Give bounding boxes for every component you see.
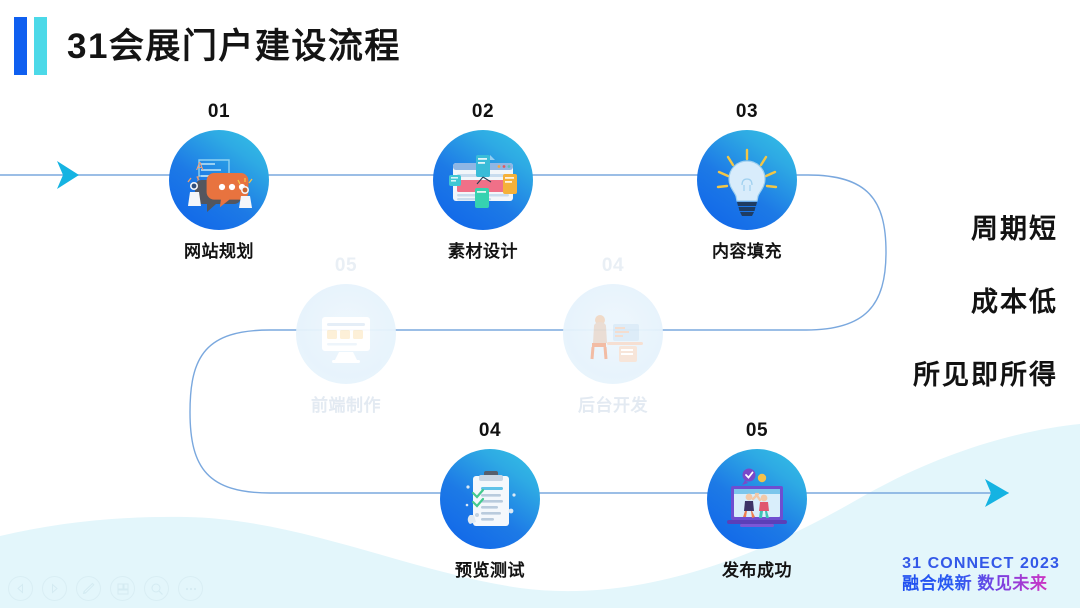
speech-bubbles-icon: A ? <box>169 130 269 230</box>
step-label: 前端制作 <box>261 397 431 414</box>
page-title: 31会展门户建设流程 <box>67 29 401 64</box>
step-number: 04 <box>405 421 575 440</box>
step-label: 发布成功 <box>672 562 842 579</box>
process-step-4[interactable]: 04 预览测试 <box>405 421 575 579</box>
benefit-item: 所见即所得 <box>913 362 1058 389</box>
process-step-3[interactable]: 03 内容填充 <box>662 102 832 260</box>
svg-text:?: ? <box>196 175 200 183</box>
pen-tool-button[interactable] <box>76 576 101 601</box>
process-step-backend-faded[interactable]: 04 后台开发 <box>528 256 698 414</box>
pen-icon <box>81 581 96 596</box>
benefits-list: 周期短 成本低 所见即所得 <box>913 216 1058 389</box>
step-label: 后台开发 <box>528 397 698 414</box>
grid-icon <box>116 582 130 596</box>
title-accent-bar-dark <box>14 17 27 75</box>
process-step-frontend-faded[interactable]: 05 前端制作 <box>261 256 431 414</box>
brand-line-2: 融合焕新 数见未来 <box>902 573 1060 594</box>
benefit-item: 周期短 <box>913 216 1058 243</box>
step-icon-circle <box>433 130 533 230</box>
step-number: 05 <box>261 256 431 275</box>
triangle-right-icon <box>49 583 60 594</box>
step-icon-circle <box>563 284 663 384</box>
presentation-toolbar[interactable] <box>8 576 203 601</box>
step-icon-circle <box>296 284 396 384</box>
step-number: 05 <box>672 421 842 440</box>
title-accent-bar-light <box>34 17 47 75</box>
process-step-5[interactable]: 05 <box>672 421 842 579</box>
step-number: 03 <box>662 102 832 121</box>
slide-title-block: 31会展门户建设流程 <box>14 17 401 75</box>
step-number: 04 <box>528 256 698 275</box>
step-number: 01 <box>134 102 304 121</box>
step-icon-circle <box>697 130 797 230</box>
svg-text:A: A <box>196 160 204 173</box>
step-icon-circle: A ? <box>169 130 269 230</box>
lightbulb-icon <box>697 130 797 230</box>
process-step-2[interactable]: 02 <box>398 102 568 260</box>
previous-slide-button[interactable] <box>8 576 33 601</box>
process-step-1[interactable]: 01 A ? <box>134 102 304 260</box>
step-label: 预览测试 <box>405 562 575 579</box>
brand-logo: 31 CONNECT 2023 融合焕新 数见未来 <box>902 554 1060 594</box>
ellipsis-icon <box>184 586 198 592</box>
webpage-design-icon <box>433 130 533 230</box>
benefit-item: 成本低 <box>913 289 1058 316</box>
step-icon-circle <box>707 449 807 549</box>
clipboard-checklist-icon <box>440 449 540 549</box>
laptop-celebration-icon <box>707 449 807 549</box>
more-options-button[interactable] <box>178 576 203 601</box>
zoom-button[interactable] <box>144 576 169 601</box>
step-icon-circle <box>440 449 540 549</box>
step-number: 02 <box>398 102 568 121</box>
play-slide-button[interactable] <box>42 576 67 601</box>
monitor-icon <box>296 284 396 384</box>
slide-canvas: 31会展门户建设流程 01 A ? <box>0 0 1080 608</box>
developer-desk-icon <box>563 284 663 384</box>
slide-grid-button[interactable] <box>110 576 135 601</box>
brand-line-1: 31 CONNECT 2023 <box>902 554 1060 573</box>
triangle-left-icon <box>15 583 26 594</box>
magnifier-icon <box>150 582 164 596</box>
